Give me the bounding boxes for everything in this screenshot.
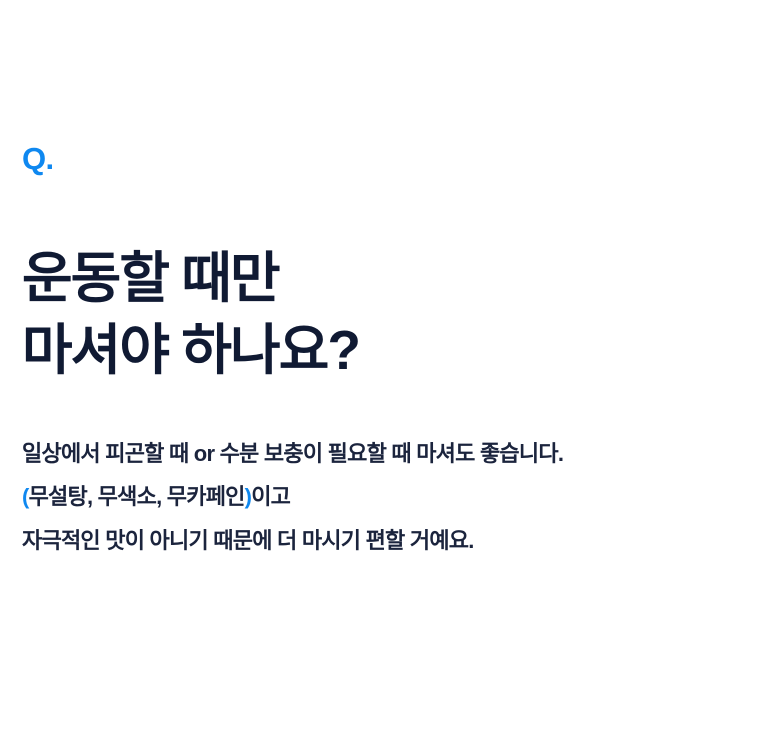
headline-line-1: 운동할 때만 bbox=[22, 242, 359, 315]
faq-card: Q. 운동할 때만 마셔야 하나요? 일상에서 피곤할 때 or 수분 보충이 … bbox=[0, 0, 760, 735]
answer-body: 일상에서 피곤할 때 or 수분 보충이 필요할 때 마셔도 좋습니다. (무설… bbox=[22, 437, 563, 557]
answer-text: 일상에서 피곤할 때 or 수분 보충이 필요할 때 마셔도 좋습니다. bbox=[22, 441, 563, 466]
page-title: 운동할 때만 마셔야 하나요? bbox=[22, 242, 359, 387]
answer-text: 이고 bbox=[251, 484, 290, 509]
answer-text: 자극적인 맛이 아니기 때문에 더 마시기 편할 거예요. bbox=[22, 528, 474, 553]
answer-line-3: 자극적인 맛이 아니기 때문에 더 마시기 편할 거예요. bbox=[22, 524, 563, 557]
answer-line-2: (무설탕, 무색소, 무카페인)이고 bbox=[22, 480, 563, 513]
answer-line-1: 일상에서 피곤할 때 or 수분 보충이 필요할 때 마셔도 좋습니다. bbox=[22, 437, 563, 470]
headline-line-2: 마셔야 하나요? bbox=[22, 314, 359, 387]
ingredient-claims: 무설탕, 무색소, 무카페인 bbox=[29, 484, 245, 509]
question-marker: Q. bbox=[22, 143, 54, 174]
